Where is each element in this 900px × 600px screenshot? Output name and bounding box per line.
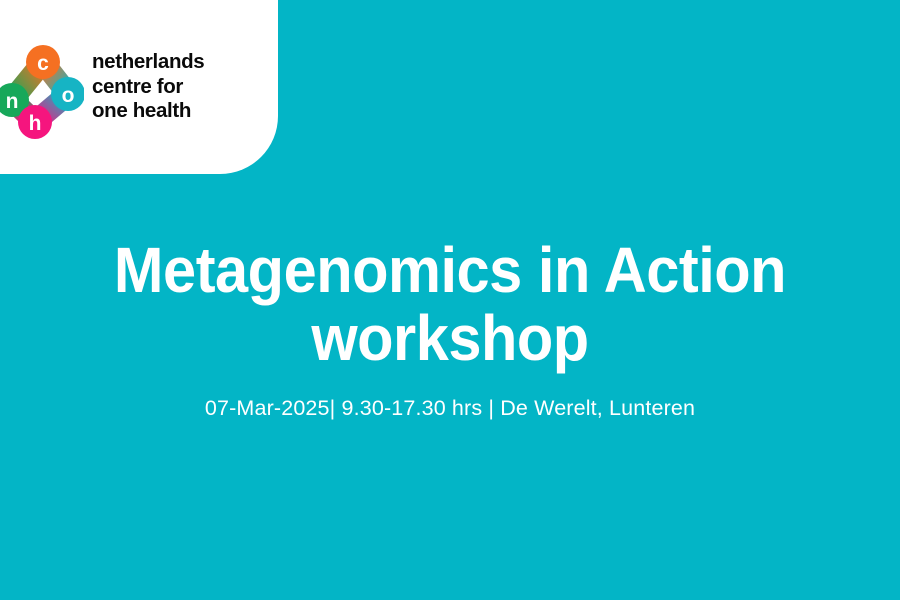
ncoh-diamond-logo-icon: c n o h	[0, 36, 84, 140]
wordmark-line-3: one health	[92, 99, 204, 124]
event-banner: c n o h netherlands centre for one healt…	[0, 0, 900, 600]
event-details: 07-Mar-2025| 9.30-17.30 hrs | De Werelt,…	[40, 394, 860, 422]
svg-text:h: h	[29, 112, 42, 135]
logo-card: c n o h netherlands centre for one healt…	[0, 0, 278, 174]
wordmark-line-2: centre for	[92, 75, 204, 100]
svg-text:o: o	[62, 84, 75, 107]
event-title: Metagenomics in Action workshop	[69, 236, 832, 372]
wordmark-line-1: netherlands	[92, 50, 204, 75]
svg-text:c: c	[37, 52, 49, 75]
ncoh-wordmark: netherlands centre for one health	[92, 50, 204, 124]
svg-text:n: n	[6, 90, 19, 113]
hero-block: Metagenomics in Action workshop 07-Mar-2…	[0, 236, 900, 422]
